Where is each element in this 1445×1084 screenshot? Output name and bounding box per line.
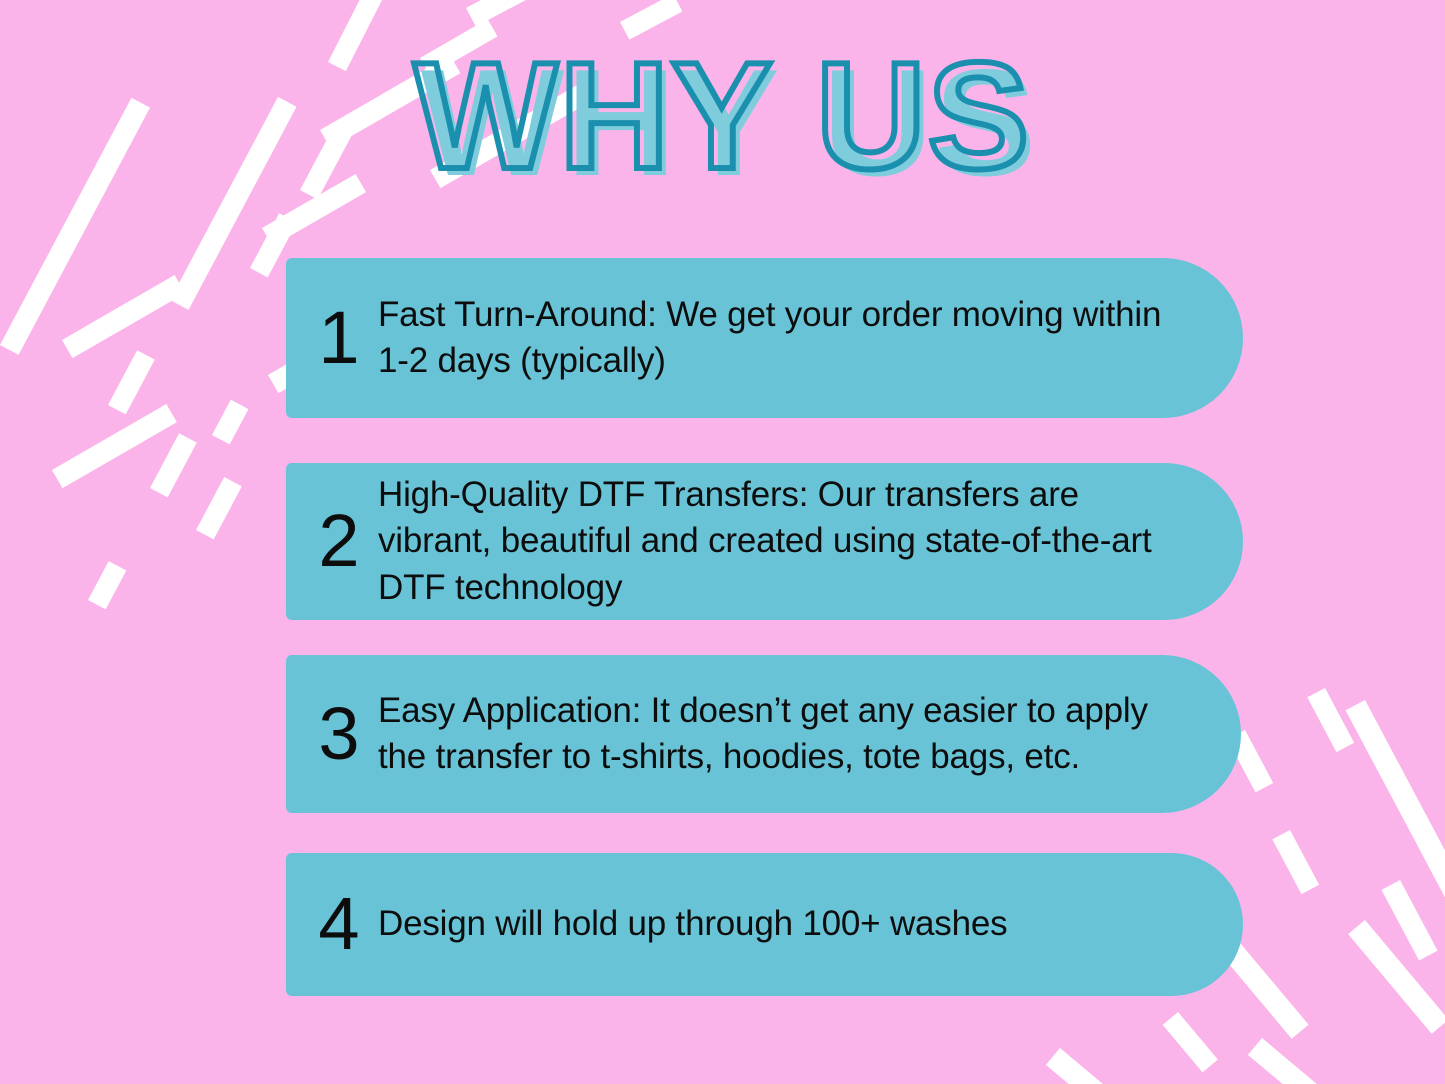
title-stack: WHY US WHY US	[414, 40, 1031, 192]
decorative-dash	[150, 433, 197, 497]
poster-canvas: WHY US WHY US 1 Fast Turn-Around: We get…	[0, 0, 1445, 1084]
decorative-dash	[1248, 1038, 1353, 1084]
decorative-dash	[1348, 920, 1445, 1034]
decorative-dash	[1163, 1012, 1218, 1072]
benefit-text-1: Fast Turn-Around: We get your order movi…	[378, 292, 1243, 384]
benefit-text-2: High-Quality DTF Transfers: Our transfer…	[378, 472, 1243, 611]
decorative-dash	[88, 561, 126, 609]
decorative-dash	[62, 275, 185, 358]
benefit-number-3: 3	[308, 699, 370, 769]
benefit-card-4: 4 Design will hold up through 100+ washe…	[286, 853, 1243, 996]
decorative-dash	[1307, 688, 1354, 752]
decorative-dash	[108, 350, 155, 414]
title-outline-text: WHY US	[414, 40, 1031, 192]
decorative-dash	[212, 400, 248, 445]
benefit-number-4: 4	[308, 889, 370, 959]
decorative-dash	[1381, 880, 1437, 960]
benefit-card-2: 2 High-Quality DTF Transfers: Our transf…	[286, 463, 1243, 620]
benefit-card-3: 3 Easy Application: It doesn’t get any e…	[286, 655, 1241, 813]
page-title: WHY US WHY US	[0, 40, 1445, 200]
benefit-text-3: Easy Application: It doesn’t get any eas…	[378, 688, 1241, 780]
benefit-number-2: 2	[308, 506, 370, 576]
decorative-dash	[196, 477, 242, 539]
decorative-dash	[1272, 830, 1319, 894]
decorative-dash	[1346, 700, 1445, 905]
benefit-number-1: 1	[308, 303, 370, 373]
benefit-card-1: 1 Fast Turn-Around: We get your order mo…	[286, 258, 1243, 418]
decorative-dash	[1046, 1048, 1151, 1084]
decorative-dash	[52, 404, 177, 488]
decorative-dash	[466, 0, 561, 27]
benefit-text-4: Design will hold up through 100+ washes	[378, 901, 1243, 947]
